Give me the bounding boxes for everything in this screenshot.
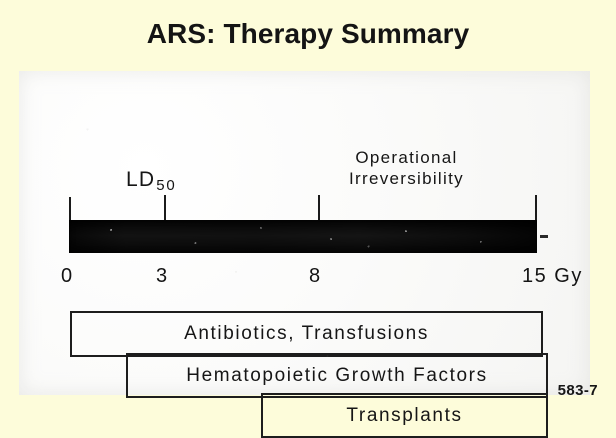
- figure-panel: LD50 Operational Irreversibility 0 3 8 1…: [19, 71, 590, 395]
- therapy-box-label: Antibiotics, Transfusions: [184, 323, 429, 345]
- ld50-callout-main: LD: [126, 168, 155, 191]
- tick-mark-0-gy: [69, 197, 71, 221]
- therapy-box-label: Hematopoietic Growth Factors: [186, 365, 487, 387]
- therapy-box-transplants: Transplants: [261, 393, 548, 438]
- axis-label-15-gy: 15 Gy: [522, 265, 583, 288]
- axis-label-3: 3: [156, 265, 169, 288]
- page-title: ARS: Therapy Summary: [0, 18, 616, 50]
- operational-irreversibility-callout-label: Operational Irreversibility: [349, 147, 464, 189]
- therapy-box-hematopoietic-growth-factors: Hematopoietic Growth Factors: [126, 353, 548, 398]
- axis-label-8: 8: [309, 265, 322, 288]
- slide-number: 583-7: [558, 382, 598, 399]
- therapy-box-label: Transplants: [346, 405, 462, 427]
- tick-mark-8-gy: [318, 195, 320, 221]
- operational-irreversibility-line1: Operational: [349, 147, 464, 168]
- operational-irreversibility-line2: Irreversibility: [349, 168, 464, 189]
- ld50-callout-label: LD50: [126, 168, 177, 194]
- tick-mark-15-gy: [535, 195, 537, 221]
- axis-label-0: 0: [61, 265, 74, 288]
- ld50-callout-subscript: 50: [156, 177, 176, 194]
- bar-end-mark: [540, 235, 548, 238]
- therapy-box-antibiotics-transfusions: Antibiotics, Transfusions: [70, 311, 543, 357]
- dose-gradient-bar: [69, 220, 537, 253]
- tick-mark-3-gy: [164, 195, 166, 221]
